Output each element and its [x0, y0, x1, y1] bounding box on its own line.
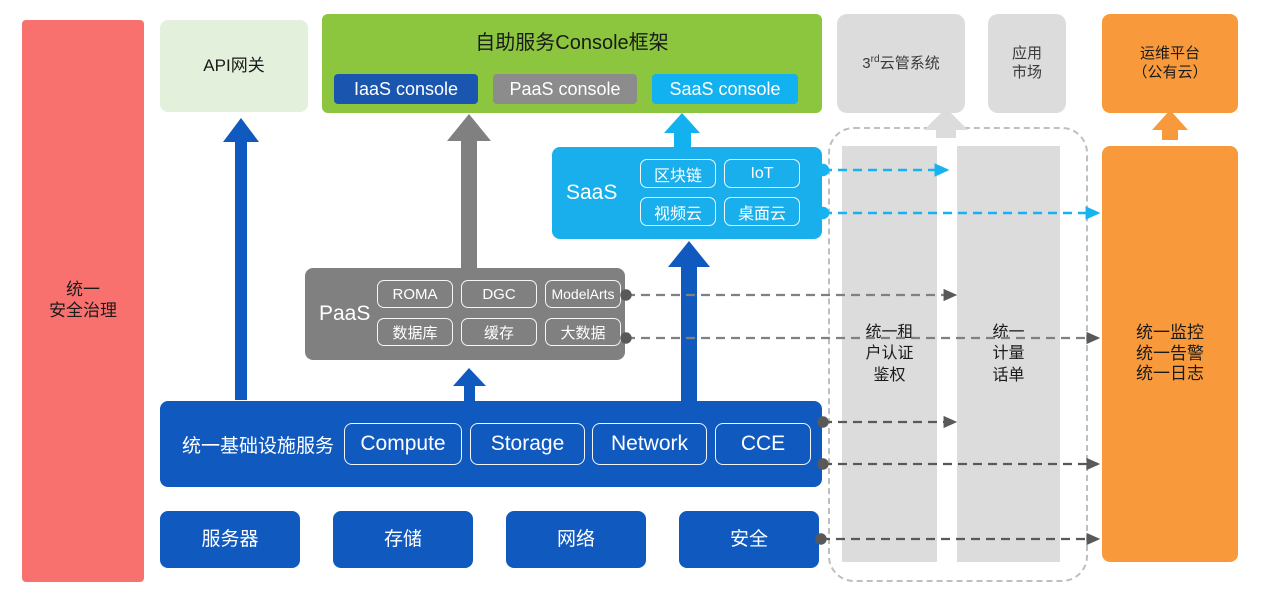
- iaas-console-chip[interactable]: IaaS console: [334, 74, 478, 104]
- saas-layer-title: SaaS: [566, 147, 617, 239]
- hardware-tile-server[interactable]: 服务器: [160, 511, 300, 568]
- unified-metering-column: 统一 计量 话单: [957, 146, 1060, 562]
- arrow-infra-to-saas: [668, 241, 710, 401]
- unified-infrastructure-panel: 统一基础设施服务 Compute Storage Network CCE: [160, 401, 822, 487]
- ops-platform-top-label: 运维平台 （公有云）: [1132, 45, 1207, 82]
- infra-service-cce[interactable]: CCE: [715, 423, 811, 465]
- app-market-box: 应用 市场: [988, 14, 1066, 113]
- arrow-infra-to-api-gateway: [223, 118, 259, 400]
- security-governance-panel: 统一 安全治理: [22, 20, 144, 582]
- ops-platform-side-panel: 统一监控 统一告警 统一日志: [1102, 146, 1238, 562]
- arrow-into-ops-platform: [1152, 110, 1188, 140]
- unified-tenant-auth-label: 统一租 户认证 鉴权: [865, 322, 913, 387]
- app-market-label: 应用 市场: [1012, 45, 1042, 82]
- saas-service-video-cloud[interactable]: 视频云: [640, 197, 716, 226]
- infra-service-network[interactable]: Network: [592, 423, 707, 465]
- arrow-paas-to-console: [447, 114, 491, 268]
- hardware-tile-network[interactable]: 网络: [506, 511, 646, 568]
- third-party-superscript: rd: [871, 54, 880, 65]
- paas-service-modelarts[interactable]: ModelArts: [545, 280, 621, 308]
- paas-service-dgc[interactable]: DGC: [461, 280, 537, 308]
- architecture-diagram: 统一 安全治理 API网关 自助服务Console框架 IaaS console…: [0, 0, 1265, 605]
- saas-layer-panel: SaaS 区块链 IoT 视频云 桌面云: [552, 147, 822, 239]
- unified-infrastructure-title: 统一基础设施服务: [182, 401, 334, 487]
- ops-platform-side-label: 统一监控 统一告警 统一日志: [1136, 323, 1204, 385]
- paas-service-bigdata[interactable]: 大数据: [545, 318, 621, 346]
- console-framework-title: 自助服务Console框架: [322, 26, 822, 55]
- saas-console-label: SaaS console: [669, 79, 780, 100]
- unified-tenant-auth-column: 统一租 户认证 鉴权: [842, 146, 937, 562]
- security-governance-label: 统一 安全治理: [49, 280, 117, 321]
- api-gateway-box: API网关: [160, 20, 308, 112]
- third-party-cloud-mgmt-box: 3rd云管系统: [837, 14, 965, 113]
- hardware-tile-security[interactable]: 安全: [679, 511, 819, 568]
- third-party-cloud-mgmt-label: 3rd云管系统: [862, 54, 939, 73]
- ops-platform-top-box: 运维平台 （公有云）: [1102, 14, 1238, 113]
- saas-service-desktop-cloud[interactable]: 桌面云: [724, 197, 800, 226]
- api-gateway-label: API网关: [203, 56, 264, 77]
- console-framework-panel: 自助服务Console框架 IaaS console PaaS console …: [322, 14, 822, 113]
- infra-service-compute[interactable]: Compute: [344, 423, 462, 465]
- paas-layer-panel: PaaS ROMA DGC ModelArts 数据库 缓存 大数据: [305, 268, 625, 360]
- infra-service-storage[interactable]: Storage: [470, 423, 585, 465]
- arrow-saas-to-console: [664, 113, 700, 148]
- iaas-console-label: IaaS console: [354, 79, 458, 100]
- paas-service-cache[interactable]: 缓存: [461, 318, 537, 346]
- unified-metering-label: 统一 计量 话单: [992, 322, 1024, 387]
- paas-layer-title: PaaS: [319, 268, 370, 360]
- hardware-tile-storage[interactable]: 存储: [333, 511, 473, 568]
- paas-console-label: PaaS console: [509, 79, 620, 100]
- paas-service-roma[interactable]: ROMA: [377, 280, 453, 308]
- arrow-infra-to-paas: [453, 368, 486, 401]
- paas-service-database[interactable]: 数据库: [377, 318, 453, 346]
- saas-service-iot[interactable]: IoT: [724, 159, 800, 188]
- paas-console-chip[interactable]: PaaS console: [493, 74, 637, 104]
- saas-service-blockchain[interactable]: 区块链: [640, 159, 716, 188]
- saas-console-chip[interactable]: SaaS console: [652, 74, 798, 104]
